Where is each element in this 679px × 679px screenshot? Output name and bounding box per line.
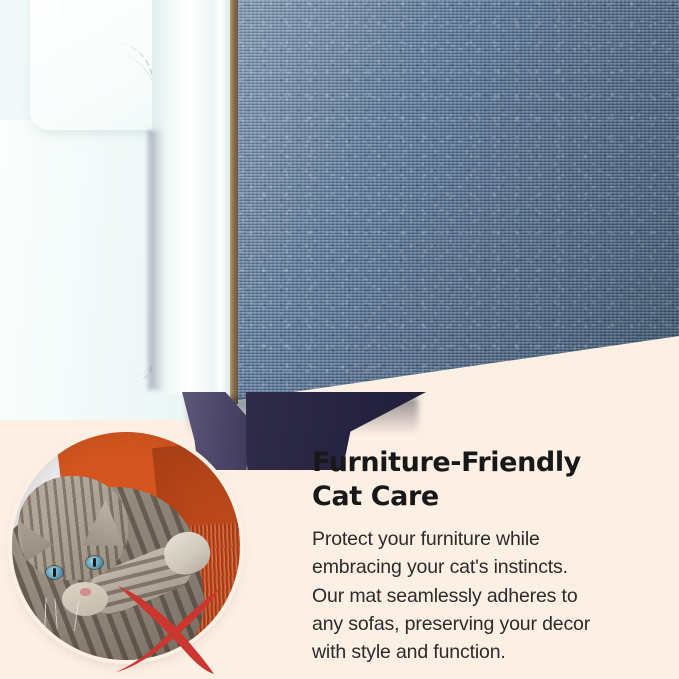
text-block: Furniture-Friendly Cat Care Protect your… xyxy=(312,446,672,666)
mat-side-edge xyxy=(230,0,238,404)
inset-vignette xyxy=(12,432,240,660)
product-feature-card: Furniture-Friendly Cat Care Protect your… xyxy=(0,0,679,679)
sofa-edge-strip xyxy=(214,0,230,406)
cat-scratching-inset-photo xyxy=(12,432,240,660)
scratching-mat xyxy=(238,0,679,400)
sofa-arm-shadow xyxy=(148,130,164,390)
sofa-mat-photo xyxy=(0,0,679,470)
headline: Furniture-Friendly Cat Care xyxy=(312,446,672,514)
mat-sheen-overlay xyxy=(238,0,679,400)
body-copy: Protect your furniture while embracing y… xyxy=(312,525,672,666)
